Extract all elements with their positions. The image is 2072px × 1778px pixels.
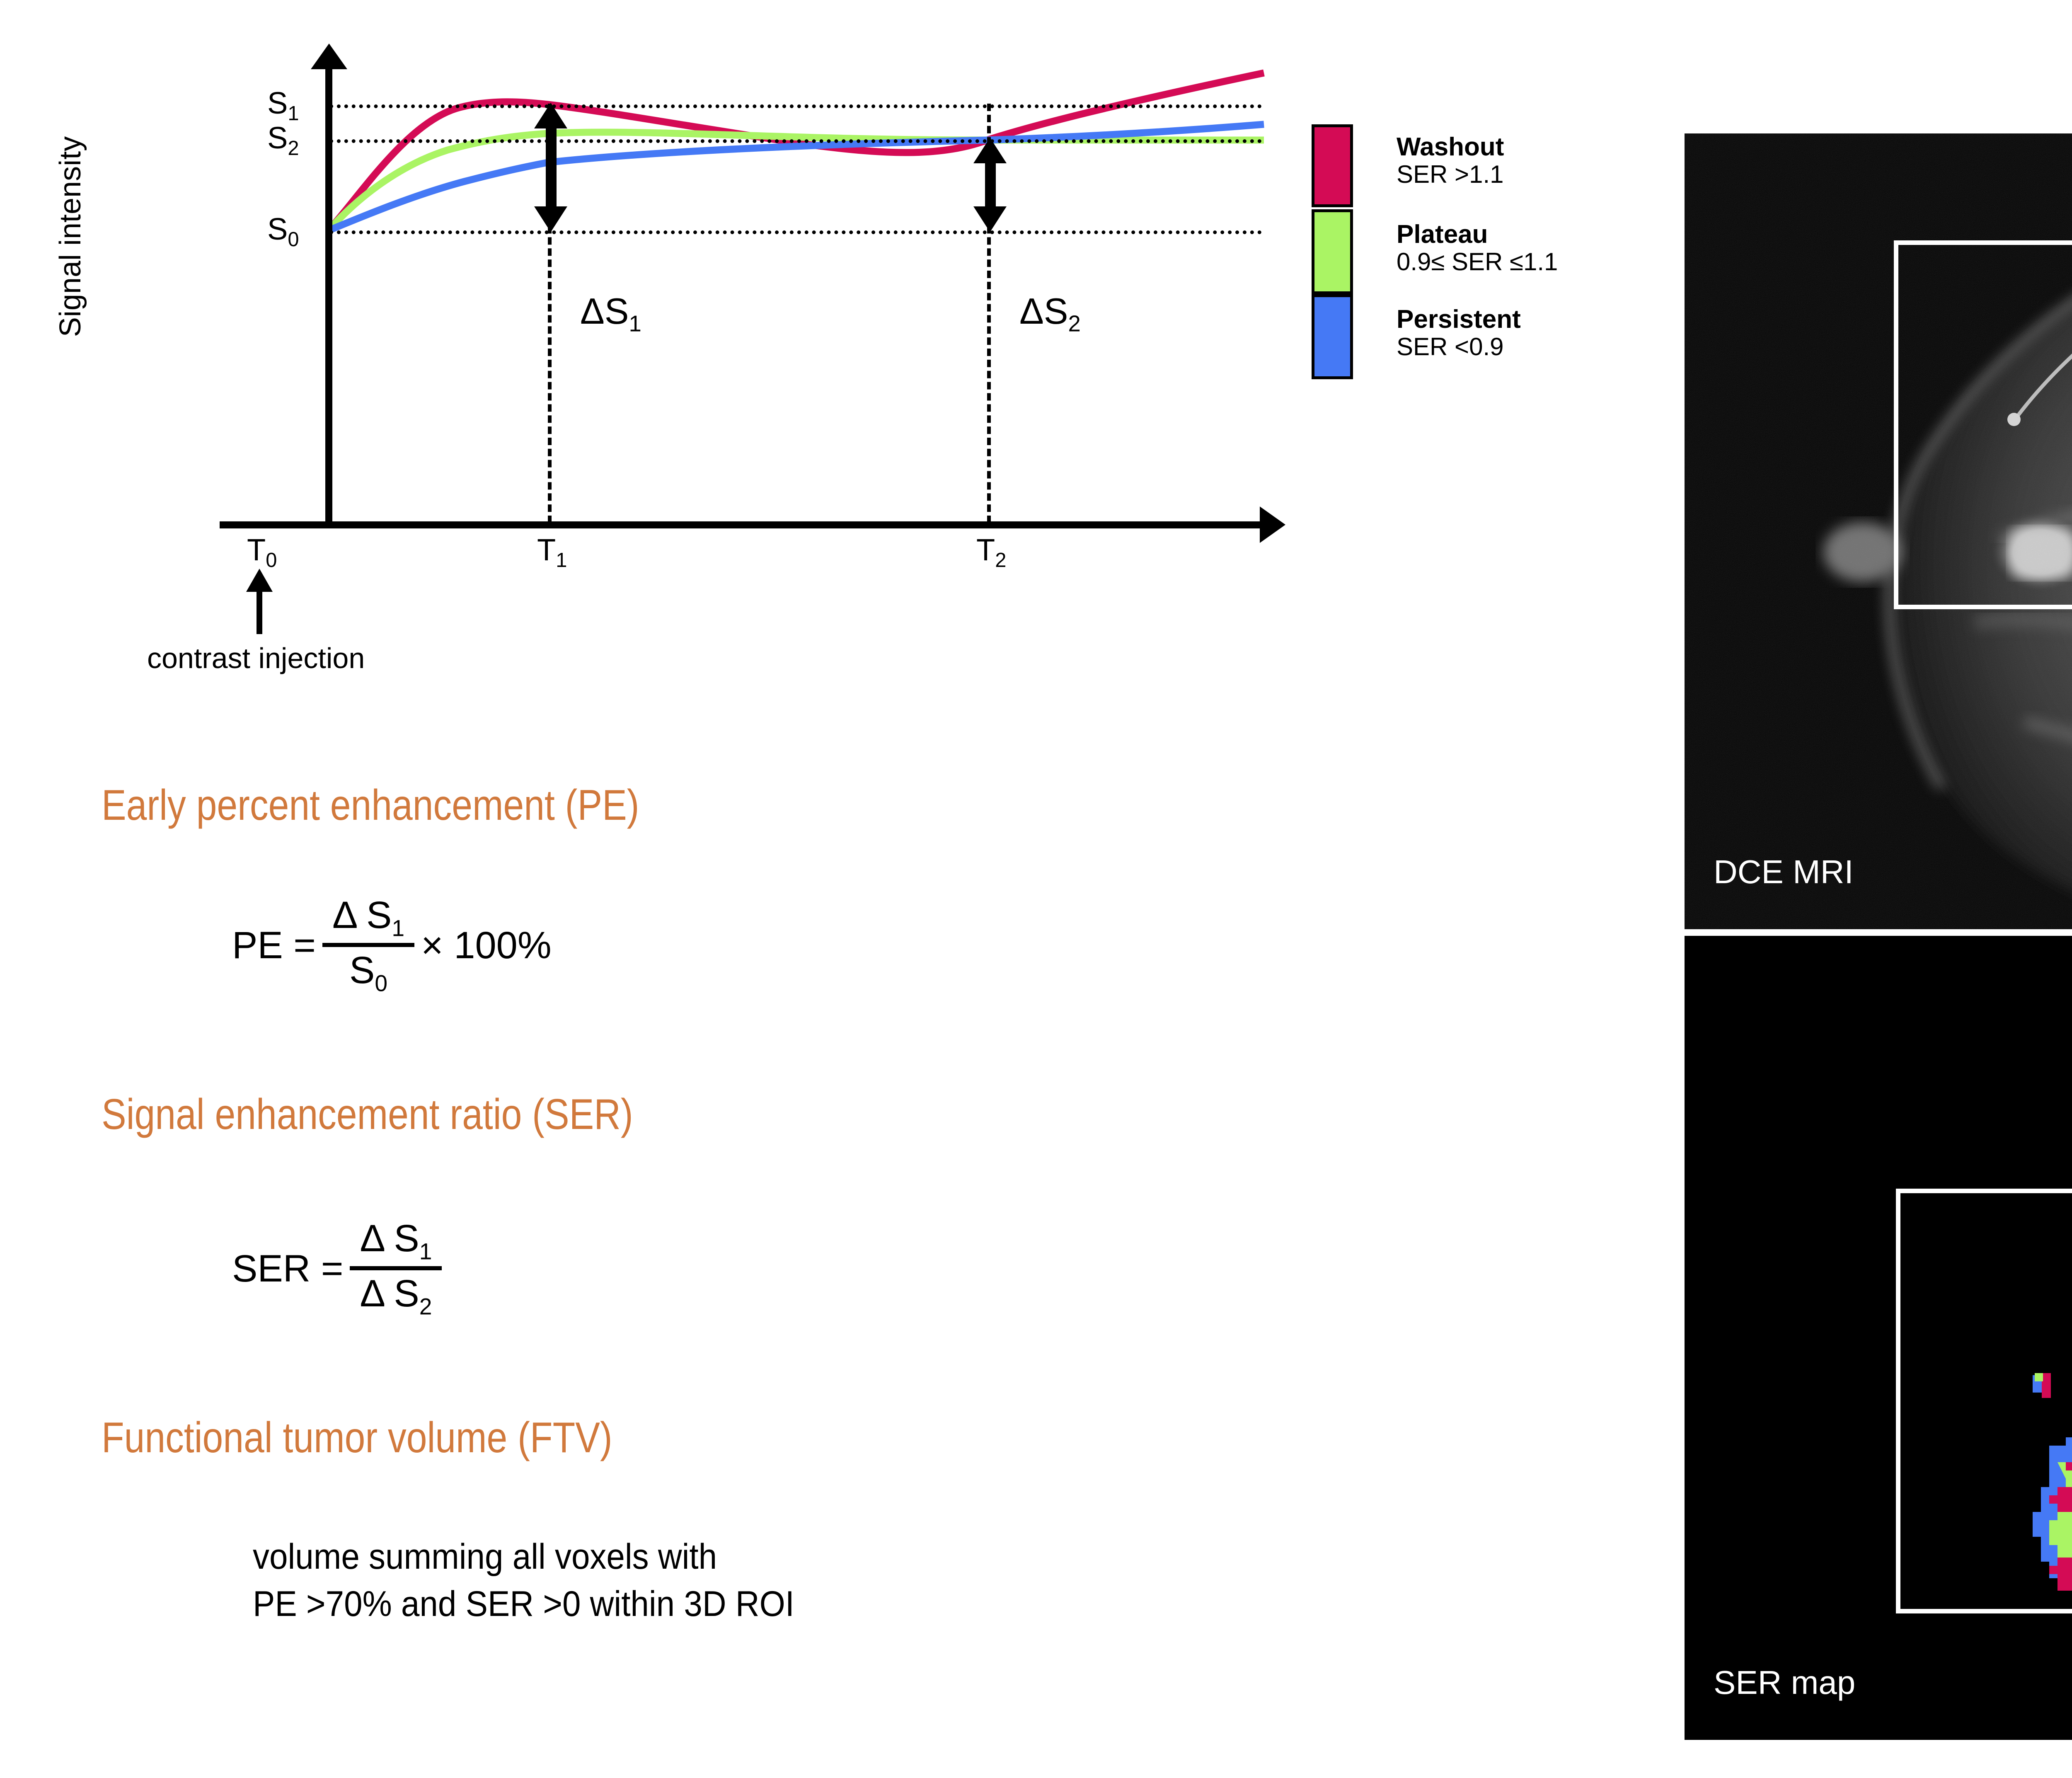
formula-pe-fraction: Δ S1 S0 — [322, 895, 414, 996]
formula-ser-fraction: Δ S1 Δ S2 — [350, 1218, 442, 1319]
formula-pe-fraction-bar — [322, 943, 414, 947]
formula-pe-lhs: PE = — [232, 924, 316, 967]
y-axis-arrowhead-icon — [311, 44, 347, 69]
dce-mri-panel: DCE MRI — [1685, 133, 2072, 929]
dce-kinetic-curve-chart: ΔS1 ΔS2 S1 S2 S0 T0 T1 T2 Signal intensi… — [0, 0, 1305, 725]
curve-washout — [329, 73, 1264, 230]
formula-ser-numerator: Δ S1 — [350, 1218, 442, 1266]
legend-sub-persistent: SER <0.9 — [1397, 333, 1521, 361]
delta-s1-label: ΔS1 — [580, 290, 641, 337]
heading-signal-enhancement-ratio: Signal enhancement ratio (SER) — [102, 1090, 633, 1139]
y-tick-s0: S0 — [267, 214, 299, 250]
y-axis — [325, 62, 332, 526]
x-axis-arrowhead-icon — [1260, 506, 1285, 543]
formula-ser: SER = Δ S1 Δ S2 — [232, 1218, 448, 1319]
contrast-injection-arrow-shaft — [257, 589, 262, 634]
x-tick-t1: T1 — [537, 535, 567, 571]
legend-title-washout: Washout — [1397, 133, 1504, 161]
legend-sub-plateau: 0.9≤ SER ≤1.1 — [1397, 248, 1558, 276]
formula-pe-denominator: S0 — [339, 947, 397, 996]
kinetic-curves-svg — [0, 0, 1305, 580]
x-tick-t2: T2 — [976, 535, 1006, 571]
dce-roi-box — [1894, 240, 2072, 609]
ser-category-legend: Washout SER >1.1 Plateau 0.9≤ SER ≤1.1 P… — [1312, 124, 1697, 398]
ser-panel-label: SER map — [1714, 1664, 1855, 1702]
heading-functional-tumor-volume: Functional tumor volume (FTV) — [102, 1413, 612, 1463]
gridline-s2 — [329, 139, 1262, 143]
legend-swatch-plateau — [1312, 209, 1353, 294]
legend-swatch-washout — [1312, 124, 1353, 207]
formula-pe: PE = Δ S1 S0 × 100% — [232, 895, 552, 996]
legend-title-plateau: Plateau — [1397, 221, 1558, 248]
formula-ser-denominator: Δ S2 — [350, 1270, 442, 1319]
formula-ser-fraction-bar — [350, 1266, 442, 1270]
formula-pe-numerator: Δ S1 — [322, 895, 414, 943]
heading-early-percent-enhancement: Early percent enhancement (PE) — [102, 781, 639, 830]
ftv-description-line2: PE >70% and SER >0 within 3D ROI — [253, 1581, 794, 1628]
gridline-s0 — [329, 230, 1262, 234]
legend-sub-washout: SER >1.1 — [1397, 161, 1504, 188]
y-tick-s1: S1 — [267, 88, 299, 124]
ser-roi-box — [1896, 1189, 2072, 1613]
delta-s2-label: ΔS2 — [1019, 290, 1081, 337]
gridline-s1 — [329, 104, 1262, 108]
ser-map-panel: SER map — [1685, 936, 2072, 1740]
legend-swatch-persistent — [1312, 294, 1353, 379]
legend-title-persistent: Persistent — [1397, 306, 1521, 333]
ftv-description: volume summing all voxels with PE >70% a… — [253, 1533, 835, 1628]
formula-pe-suffix: × 100% — [421, 924, 552, 967]
dce-panel-label: DCE MRI — [1714, 853, 1854, 891]
x-axis — [220, 521, 1264, 528]
ftv-description-line1: volume summing all voxels with — [253, 1533, 794, 1581]
y-tick-s2: S2 — [267, 123, 299, 159]
x-tick-t0: T0 — [247, 535, 277, 571]
contrast-injection-label: contrast injection — [147, 642, 365, 675]
y-axis-title: Signal intensity — [53, 129, 87, 344]
formula-ser-lhs: SER = — [232, 1247, 343, 1291]
